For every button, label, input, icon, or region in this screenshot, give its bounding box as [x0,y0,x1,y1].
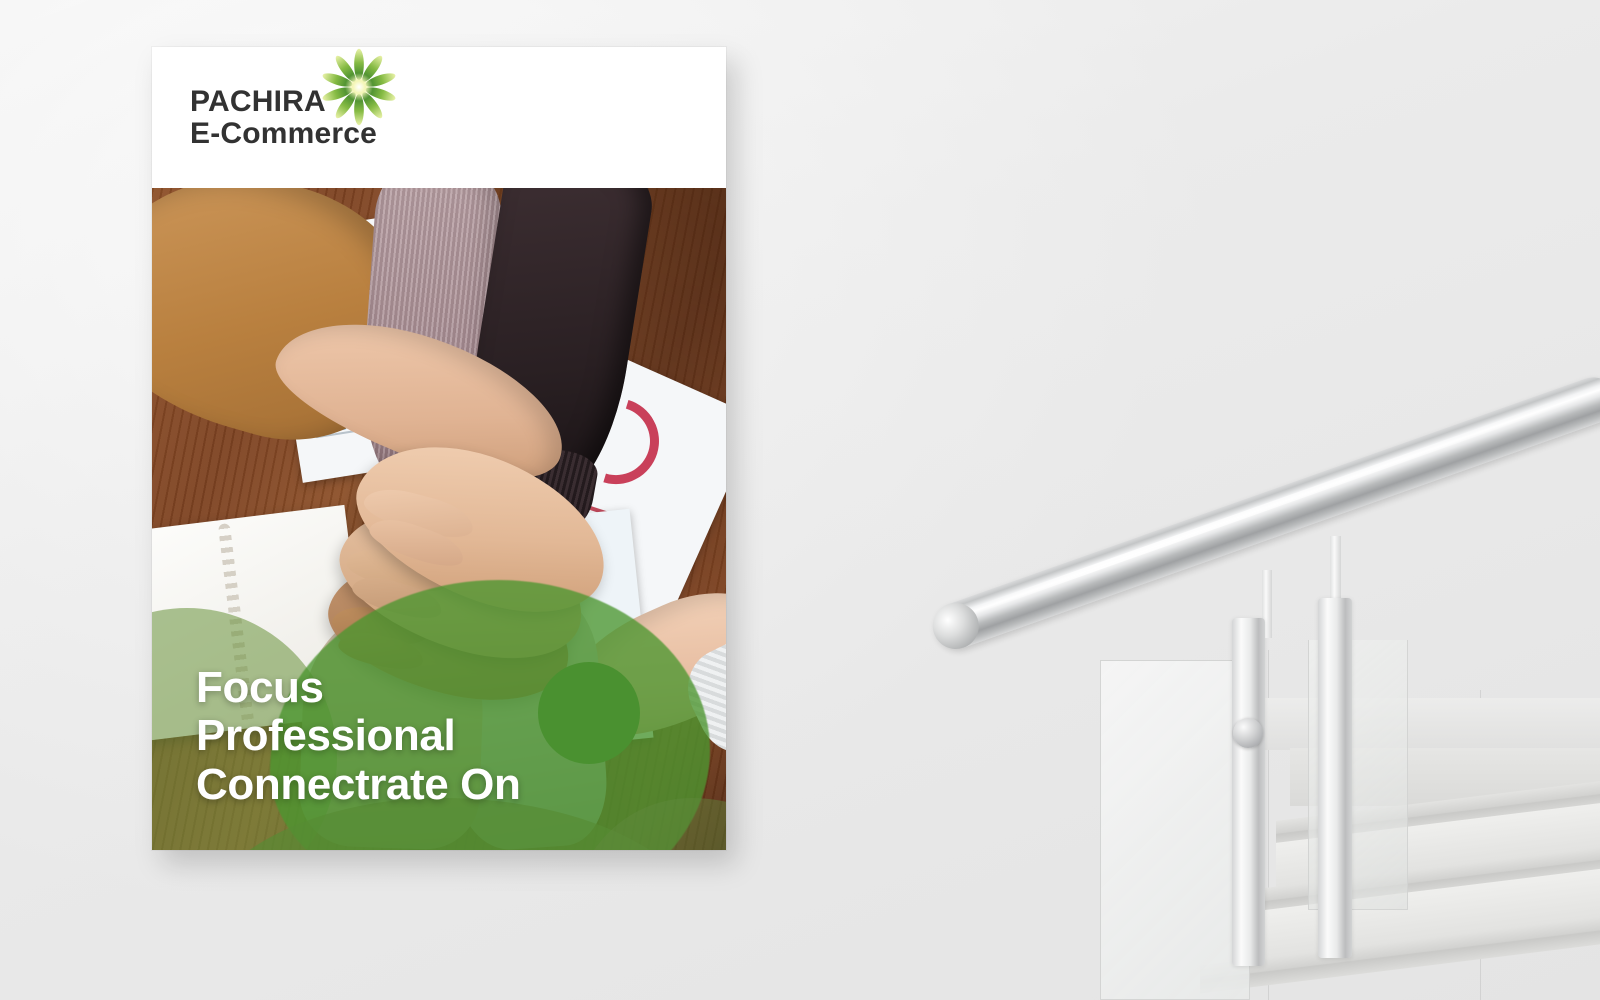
wall-band [1230,698,1600,750]
handrail-post-ball-joint [1233,718,1263,748]
green-accent-circle [538,662,640,764]
poster-headline: Focus Professional Connectrate On [196,664,520,810]
headline-line-2: Professional [196,712,520,761]
headline-line-3: Connectrate On [196,761,520,810]
poster-photograph: Focus Professional Connectrate On [152,188,726,850]
poster-header: PACHIRA E-Commerce [152,47,726,188]
glass-balustrade-panel [1100,660,1250,1000]
scene-root: PACHIRA E-Commerce [0,0,1600,1000]
handrail-highlight [952,386,1599,621]
handrail-post-left [1232,618,1265,966]
brand-logo: PACHIRA E-Commerce [190,86,377,150]
flower-petal-logo-icon [320,48,398,126]
handrail-post-right [1318,598,1352,958]
headline-line-1: Focus [196,664,520,713]
poster[interactable]: PACHIRA E-Commerce [152,47,726,850]
